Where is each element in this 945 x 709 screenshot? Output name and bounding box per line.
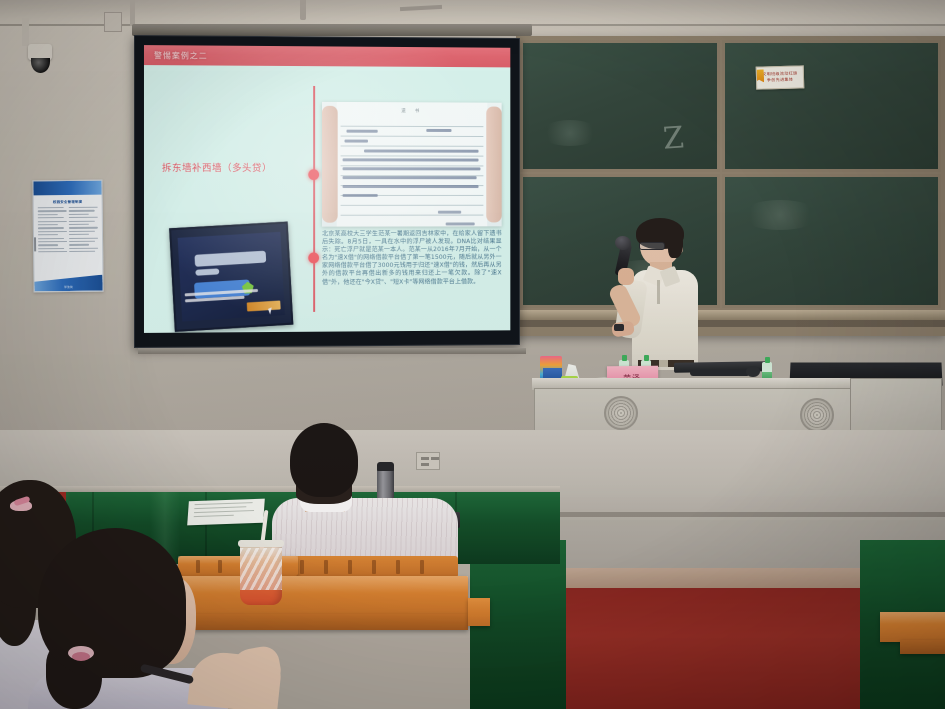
blackboard-panel [520, 40, 720, 172]
podium-cable [690, 370, 750, 376]
thermos-cap [377, 462, 394, 471]
poster-column [38, 207, 67, 255]
man-white-shirt-head [290, 423, 358, 497]
slide-timeline-line [313, 86, 315, 312]
power-outlet [416, 452, 440, 470]
hand-holding-note-left [322, 106, 338, 223]
podium-speaker-grille [800, 398, 834, 432]
chalk-mark-text: Z [662, 120, 685, 156]
timeline-dot-icon [308, 252, 319, 263]
lecturer [612, 222, 722, 370]
slide-title-bar: 警惕案例之二 [144, 45, 510, 67]
ceiling-band [0, 0, 945, 26]
handwritten-suicide-note-photo: 遗 书 [322, 102, 502, 227]
red-carpet-aisle [560, 588, 860, 709]
projector-screen-roller [132, 24, 532, 36]
chalk-tray [516, 310, 945, 320]
wall-conduit-center [300, 0, 306, 20]
hand-holding-note-right [486, 107, 501, 223]
student-girl-front-hair [38, 528, 186, 678]
wall-conduit [130, 0, 135, 26]
loan-app-chat-screenshot [169, 221, 293, 331]
chat-bubble [195, 268, 219, 275]
hair-scrunchie-inner [72, 652, 90, 661]
poster-column [69, 207, 98, 255]
chat-screen [178, 232, 285, 322]
cup-lid [238, 540, 284, 547]
classroom-photo-scene: 校园安全管理制度 学生处 Z [0, 0, 945, 709]
wall-notice-poster: 校园安全管理制度 学生处 [32, 180, 103, 293]
chalk-smudge [740, 200, 820, 230]
belt-buckle [659, 360, 668, 367]
wall-junction-box [104, 12, 122, 32]
student-desk [168, 576, 468, 618]
podium-speaker-grille [604, 396, 638, 430]
projection-screen: 警惕案例之二 拆东墙补西墙（多头贷） 遗 书 [134, 35, 520, 348]
poster-header-bar [33, 181, 101, 196]
poster-footer-text: 学生处 [35, 285, 103, 290]
lecturer-hair-side [668, 228, 683, 258]
slide-body: 拆东墙补西墙（多头贷） 遗 书 [144, 65, 510, 333]
chalk-tray-shadow [516, 320, 945, 327]
slide-title: 警惕案例之二 [154, 50, 208, 61]
blackboard-panel [722, 40, 941, 172]
student-desk-apron [168, 614, 468, 630]
presentation-remote-icon [614, 324, 624, 331]
chalk-smudge [540, 120, 600, 146]
classroom-duty-sign: 文明班级流动红旗 争创先进集体 [756, 65, 805, 89]
cup-wrapper [240, 548, 282, 590]
presentation-slide: 警惕案例之二 拆东墙补西墙（多头贷） 遗 书 [144, 45, 510, 333]
shirt-placket [657, 280, 660, 304]
lecturer-hand-mic [618, 268, 634, 285]
slide-headline: 拆东墙补西墙（多头贷） [162, 160, 305, 174]
poster-columns [34, 204, 103, 258]
paper-handout [187, 499, 265, 526]
student-desk [880, 612, 945, 642]
letter-heading: 遗 书 [337, 102, 488, 114]
student-desk-edge [468, 598, 490, 626]
slide-body-paragraph: 北京某高校大三学生范某一暑期返回吉林家中，在给家人留下遗书后失踪。8月5日，一具… [322, 230, 502, 286]
poster-side-tab [32, 237, 36, 251]
timeline-dot-icon [308, 169, 319, 180]
blackboard-panel [722, 174, 941, 308]
letter-sheet: 遗 书 [337, 102, 488, 227]
student-desk-apron [900, 640, 945, 654]
camera-bracket [22, 18, 29, 46]
podium-mouse [746, 366, 760, 377]
glasses-icon [639, 242, 665, 250]
projector-screen-bottom-bar [138, 348, 526, 354]
chat-bubble [194, 251, 266, 267]
app-button [247, 300, 281, 311]
